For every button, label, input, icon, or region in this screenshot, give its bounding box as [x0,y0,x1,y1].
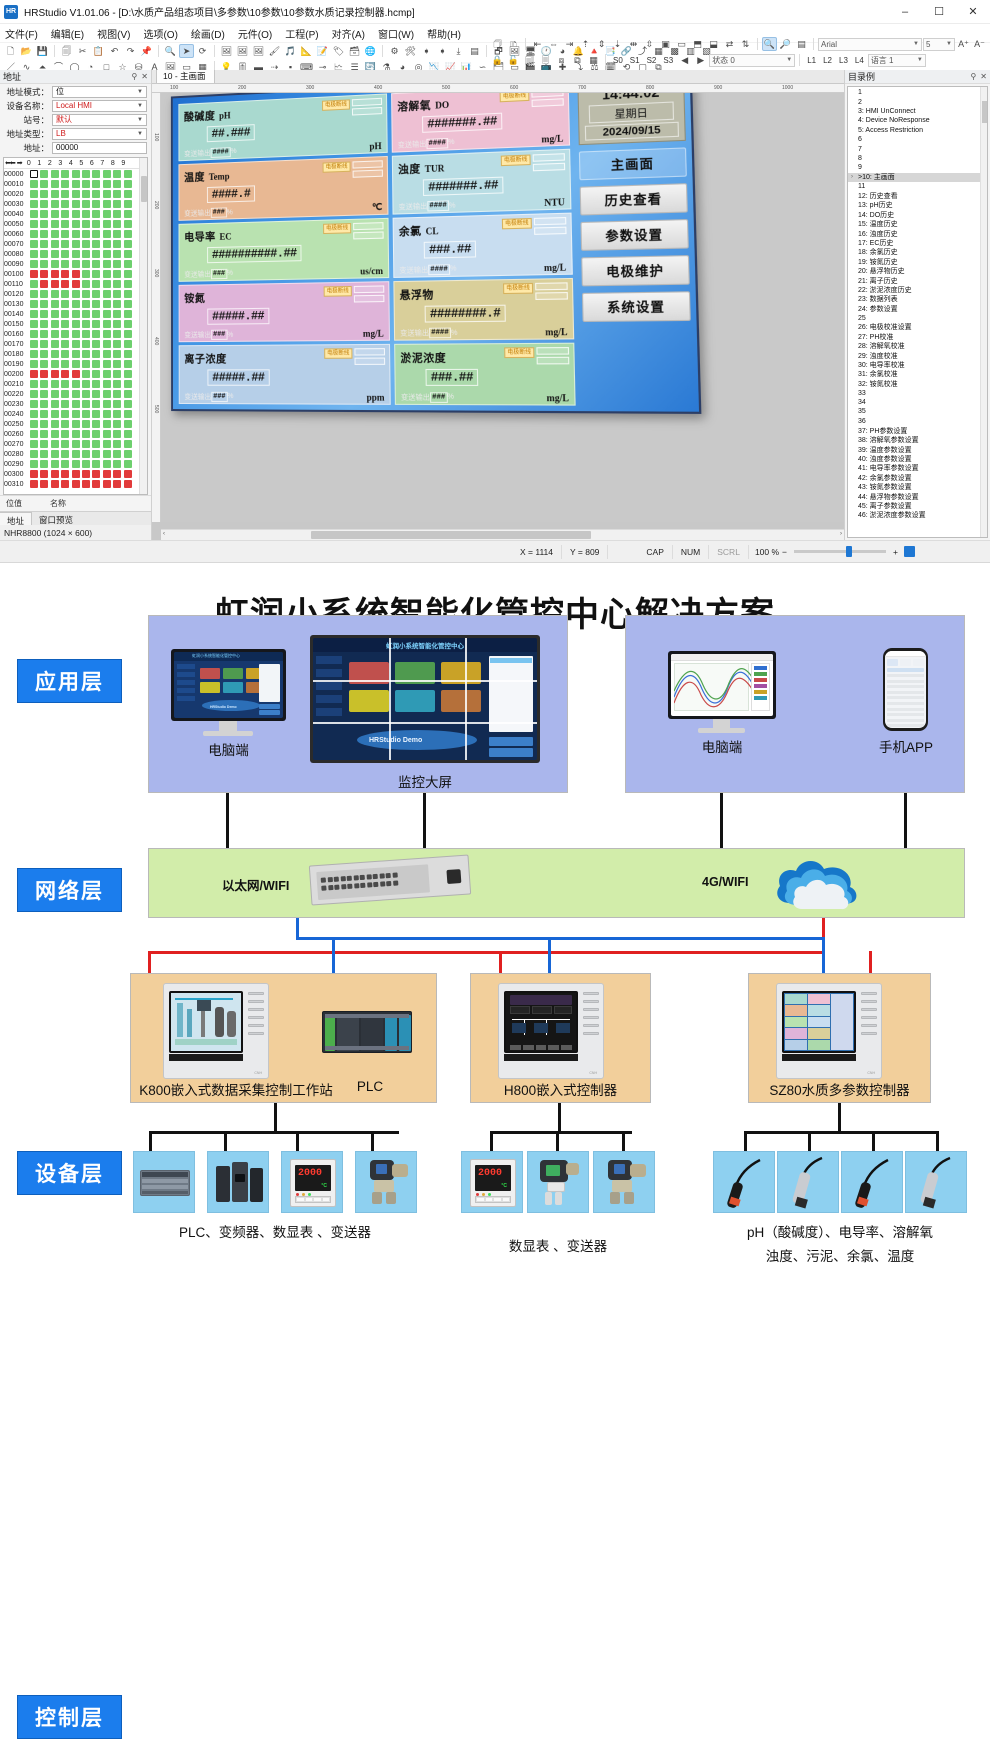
screen-list-item[interactable]: 6 [848,135,987,144]
address-bit-cell[interactable] [82,320,90,328]
fit-window-icon[interactable]: ▤ [794,37,809,51]
address-grid-row[interactable]: 00280 [4,449,147,459]
menu-window[interactable]: 窗口(W) [378,26,414,41]
fit-to-window-icon[interactable] [904,546,915,557]
address-bit-cell[interactable] [30,440,38,448]
address-bit-cell[interactable] [113,400,121,408]
distribute-h-icon[interactable]: ⇹ [626,37,641,51]
address-bit-cell[interactable] [103,390,111,398]
screen-list-item[interactable]: 14: DO历史 [848,210,987,219]
address-bit-cell[interactable] [30,200,38,208]
address-bit-cell[interactable] [103,360,111,368]
split-icon[interactable]: ⧉ [570,53,585,67]
address-bit-cell[interactable] [82,180,90,188]
screen-list-item[interactable]: 21: 离子历史 [848,276,987,285]
menu-options[interactable]: 选项(O) [143,26,177,41]
address-bit-cell[interactable] [30,380,38,388]
unlock-icon[interactable]: 🔓 [506,53,521,67]
screen-list-item[interactable]: 43: 铵氮参数设置 [848,482,987,491]
address-bit-cell[interactable] [72,400,80,408]
address-bit-cell[interactable] [51,440,59,448]
address-bit-cell[interactable] [82,310,90,318]
address-bit-cell[interactable] [30,480,38,488]
expand-arrow-icon[interactable]: › [851,174,853,180]
address-bit-cell[interactable] [30,270,38,278]
address-bit-cell[interactable] [82,390,90,398]
address-bit-cell[interactable] [82,220,90,228]
address-bit-cell[interactable] [124,220,132,228]
address-bit-cell[interactable] [51,180,59,188]
address-bit-cell[interactable] [82,440,90,448]
address-bit-cell[interactable] [113,270,121,278]
address-bit-cell[interactable] [40,410,48,418]
address-bit-cell[interactable] [124,240,132,248]
address-grid-row[interactable]: 00150 [4,319,147,329]
address-bit-cell[interactable] [30,370,38,378]
address-bit-cell[interactable] [51,430,59,438]
shape-library-icon[interactable]: 🖼 [251,44,266,58]
address-bit-cell[interactable] [30,250,38,258]
address-grid-row[interactable]: 00030 [4,199,147,209]
address-bit-cell[interactable] [61,430,69,438]
address-bit-cell[interactable] [51,360,59,368]
address-bit-cell[interactable] [92,340,100,348]
address-bit-cell[interactable] [92,390,100,398]
screen-list-item[interactable]: 4: Device NoResponse [848,116,987,125]
font-size-select[interactable]: 5 ▼ [923,38,955,51]
screen-list-scrollbar[interactable] [980,87,987,537]
address-bit-cell[interactable] [61,310,69,318]
address-bit-cell[interactable] [124,260,132,268]
address-bit-cell[interactable] [113,330,121,338]
address-bit-cell[interactable] [82,330,90,338]
address-type-select[interactable]: LB ▼ [52,128,147,140]
merge-icon[interactable]: ⧈ [554,53,569,67]
script-icon[interactable]: 📝 [315,44,330,58]
address-bit-cell[interactable] [103,270,111,278]
binoculars-find-icon[interactable]: 🔍 [163,44,178,58]
address-bit-cell[interactable] [124,430,132,438]
screen-list-item[interactable]: 9 [848,163,987,172]
layer-button-l2[interactable]: L2 [820,56,835,65]
address-bit-cell[interactable] [30,300,38,308]
address-bit-cell[interactable] [61,350,69,358]
grid-snap-icon[interactable]: ▦ [586,53,601,67]
address-bit-cell[interactable] [103,340,111,348]
address-bit-cell[interactable] [103,420,111,428]
address-bit-cell[interactable] [82,260,90,268]
address-bit-cell[interactable] [61,230,69,238]
canvas-horizontal-scrollbar[interactable]: ‹ › [161,529,844,540]
grid-nav-prev-icon[interactable]: ➡ [17,159,22,167]
address-bit-cell[interactable] [40,420,48,428]
address-bit-cell[interactable] [30,230,38,238]
zoom-in-icon[interactable]: 🔍 [762,37,777,51]
menu-file[interactable]: 文件(F) [5,26,38,41]
address-bit-cell[interactable] [113,430,121,438]
menu-element[interactable]: 元件(O) [238,26,272,41]
address-bit-cell[interactable] [61,290,69,298]
layer-button-l4[interactable]: L4 [852,56,867,65]
device-name-select[interactable]: Local HMI ▼ [52,100,147,112]
address-bit-cell[interactable] [72,280,80,288]
scrollbar-thumb[interactable] [311,531,591,539]
address-bit-cell[interactable] [40,360,48,368]
address-bit-cell[interactable] [51,280,59,288]
address-bit-cell[interactable] [113,350,121,358]
address-bit-cell[interactable] [40,200,48,208]
address-bit-cell[interactable] [51,290,59,298]
address-bit-cell[interactable] [82,430,90,438]
address-bit-cell[interactable] [113,480,121,488]
address-bit-cell[interactable] [92,240,100,248]
address-bit-cell[interactable] [51,240,59,248]
design-canvas[interactable]: 酸碱度pH电极断线##.###变送输出####%pH温度Temp电极断线####… [161,93,844,522]
address-bit-cell[interactable] [113,190,121,198]
address-bit-cell[interactable] [82,240,90,248]
address-bit-cell[interactable] [51,420,59,428]
hmi-parameter-box[interactable]: 悬浮物电极断线########.#变送输出####%mg/L [393,278,574,341]
address-bit-cell[interactable] [61,420,69,428]
address-bit-cell[interactable] [30,290,38,298]
address-bit-cell[interactable] [92,400,100,408]
nav-button-main-screen[interactable]: 主画面 [579,147,687,180]
address-bit-cell[interactable] [40,230,48,238]
address-bit-cell[interactable] [30,240,38,248]
address-bit-cell[interactable] [40,260,48,268]
screen-list-item[interactable]: 19: 铵氮历史 [848,257,987,266]
address-bit-cell[interactable] [51,340,59,348]
screen-list-item[interactable]: 30: 电导率校准 [848,360,987,369]
address-bit-cell[interactable] [61,270,69,278]
address-bit-cell[interactable] [92,370,100,378]
address-bit-cell[interactable] [113,380,121,388]
screen-list-item[interactable]: 15: 温度历史 [848,219,987,228]
sound-icon[interactable]: 🎵 [283,44,298,58]
address-bit-cell[interactable] [82,350,90,358]
address-grid-row[interactable]: 00060 [4,229,147,239]
address-bit-cell[interactable] [51,300,59,308]
address-bit-cell[interactable] [40,470,48,478]
hmi-parameter-box[interactable]: 离子浓度电极断线#####.##变送输出###%ppm [179,344,391,405]
address-bit-cell[interactable] [113,440,121,448]
screen-list-item[interactable]: 22: 淤泥浓度历史 [848,285,987,294]
decrease-font-icon[interactable]: A⁻ [972,37,987,51]
address-bit-cell[interactable] [51,480,59,488]
address-bit-cell[interactable] [124,350,132,358]
address-bit-cell[interactable] [113,170,121,178]
address-bit-cell[interactable] [124,400,132,408]
address-bit-cell[interactable] [82,340,90,348]
address-bit-cell[interactable] [51,320,59,328]
address-bit-cell[interactable] [30,220,38,228]
address-bit-cell[interactable] [61,220,69,228]
screen-list-item[interactable]: 17: EC历史 [848,238,987,247]
screen-list-item[interactable]: 28: 溶解氧校准 [848,342,987,351]
menu-project[interactable]: 工程(P) [285,26,318,41]
address-grid-row[interactable]: 00120 [4,289,147,299]
address-bit-cell[interactable] [103,460,111,468]
address-bit-cell[interactable] [124,190,132,198]
tab-address[interactable]: 地址 [0,512,32,525]
address-bit-cell[interactable] [124,210,132,218]
address-bit-cell[interactable] [103,440,111,448]
scroll-left-icon[interactable]: ‹ [163,531,165,537]
align-bottom-icon[interactable]: ⇣ [610,37,625,51]
address-bit-cell[interactable] [124,310,132,318]
address-bit-cell[interactable] [30,360,38,368]
electrode-disconnect-indicator[interactable]: 电极断线 [324,286,352,297]
address-bit-cell[interactable] [40,320,48,328]
address-bit-cell[interactable] [61,210,69,218]
address-grid-row[interactable]: 00300 [4,469,147,479]
address-bit-cell[interactable] [103,220,111,228]
address-bit-cell[interactable] [82,190,90,198]
screen-list-item[interactable]: 39: 温度参数设置 [848,445,987,454]
address-bit-cell[interactable] [72,480,80,488]
address-bit-cell[interactable] [92,280,100,288]
layer-button-l3[interactable]: L3 [836,56,851,65]
prev-state-icon[interactable]: ◀ [677,53,692,67]
address-bit-cell[interactable] [103,400,111,408]
address-bit-cell[interactable] [92,430,100,438]
address-bit-cell[interactable] [82,300,90,308]
flip-v-icon[interactable]: ⇅ [738,37,753,51]
address-bit-cell[interactable] [30,470,38,478]
address-bit-cell[interactable] [51,470,59,478]
address-bit-cell[interactable] [113,290,121,298]
address-bit-cell[interactable] [72,220,80,228]
address-bit-cell[interactable] [61,180,69,188]
address-grid-row[interactable]: 00080 [4,249,147,259]
address-bit-cell[interactable] [124,280,132,288]
address-bit-cell[interactable] [124,440,132,448]
screen-list-item[interactable]: 29: 浊度校准 [848,351,987,360]
address-bit-cell[interactable] [113,420,121,428]
address-type-field[interactable]: 地址类型： LB ▼ [2,127,147,140]
address-bit-cell[interactable] [103,230,111,238]
address-bit-cell[interactable] [30,410,38,418]
address-bit-cell[interactable] [113,370,121,378]
address-bit-grid[interactable]: ⬅⬅ ➡ 0123456789 000000001000020000300004… [3,157,148,495]
address-bit-cell[interactable] [103,410,111,418]
address-bit-cell[interactable] [72,230,80,238]
state-button-s0[interactable]: S0 [610,56,626,65]
address-bit-cell[interactable] [72,200,80,208]
address-bit-cell[interactable] [92,440,100,448]
screen-list-item[interactable]: 40: 浊度参数设置 [848,454,987,463]
address-bit-cell[interactable] [113,470,121,478]
screen-list-item[interactable]: 38: 溶解氧参数设置 [848,435,987,444]
address-bit-cell[interactable] [92,320,100,328]
flip-h-icon[interactable]: ⇄ [722,37,737,51]
address-bit-cell[interactable] [51,170,59,178]
device-name-field[interactable]: 设备名称： Local HMI ▼ [2,99,147,112]
address-bit-cell[interactable] [61,380,69,388]
address-bit-cell[interactable] [40,450,48,458]
address-grid-row[interactable]: 00110 [4,279,147,289]
address-bit-cell[interactable] [82,380,90,388]
address-bit-cell[interactable] [92,450,100,458]
address-bit-cell[interactable] [82,450,90,458]
address-bit-cell[interactable] [51,450,59,458]
address-bit-cell[interactable] [30,330,38,338]
address-grid-row[interactable]: 00310 [4,479,147,489]
address-grid-row[interactable]: 00190 [4,359,147,369]
address-bit-cell[interactable] [82,230,90,238]
address-bit-cell[interactable] [30,320,38,328]
address-bit-cell[interactable] [40,350,48,358]
hmi-parameter-box[interactable]: 酸碱度pH电极断线##.###变送输出####%pH [178,93,387,160]
address-bit-cell[interactable] [92,250,100,258]
address-bit-cell[interactable] [72,290,80,298]
address-bit-cell[interactable] [103,380,111,388]
address-bit-cell[interactable] [51,200,59,208]
address-grid-row[interactable]: 00140 [4,309,147,319]
address-bit-cell[interactable] [30,180,38,188]
address-bit-cell[interactable] [61,280,69,288]
group-icon[interactable]: 🗇 [490,37,505,51]
copy-icon[interactable]: 🗐 [59,44,74,58]
close-button[interactable]: ✕ [956,0,990,24]
address-bit-cell[interactable] [51,260,59,268]
address-bit-cell[interactable] [113,210,121,218]
bring-front-icon[interactable]: ⬒ [690,37,705,51]
address-bit-cell[interactable] [61,260,69,268]
address-bit-cell[interactable] [82,480,90,488]
address-bit-cell[interactable] [72,450,80,458]
address-bit-cell[interactable] [51,310,59,318]
address-input[interactable]: 00000 [52,142,147,154]
address-bit-cell[interactable] [92,330,100,338]
address-bit-cell[interactable] [30,390,38,398]
address-bit-cell[interactable] [113,220,121,228]
address-bit-cell[interactable] [30,430,38,438]
screen-list-item[interactable]: 23: 数据列表 [848,295,987,304]
address-bit-cell[interactable] [103,210,111,218]
screen-list-item[interactable]: 25 [848,313,987,322]
address-bit-cell[interactable] [92,220,100,228]
address-bit-cell[interactable] [61,390,69,398]
address-grid-row[interactable]: 00040 [4,209,147,219]
align-top-icon[interactable]: ⇡ [578,37,593,51]
duplicate-icon[interactable]: 🗏 [538,53,553,67]
address-grid-row[interactable]: 00050 [4,219,147,229]
address-bit-cell[interactable] [124,170,132,178]
address-bit-cell[interactable] [124,320,132,328]
align-left-icon[interactable]: ⇤ [530,37,545,51]
address-bit-cell[interactable] [92,360,100,368]
same-size-icon[interactable]: ▣ [658,37,673,51]
zoom-out-button[interactable]: − [782,547,787,557]
address-bit-cell[interactable] [40,270,48,278]
screen-list-item[interactable]: 44: 悬浮物参数设置 [848,492,987,501]
next-state-icon[interactable]: ▶ [693,53,708,67]
settings-gear-icon[interactable]: ⚙ [387,44,402,58]
grid-nav-first-icon[interactable]: ⬅⬅ [5,159,15,167]
open-folder-icon[interactable]: 📂 [19,44,34,58]
address-bit-cell[interactable] [61,470,69,478]
address-bit-cell[interactable] [92,290,100,298]
address-bit-cell[interactable] [113,230,121,238]
screen-list-item[interactable]: 3: HMI UnConnect [848,107,987,116]
address-bit-cell[interactable] [124,360,132,368]
address-bit-cell[interactable] [113,310,121,318]
zoom-in-button[interactable]: + [893,547,898,557]
maximize-button[interactable]: ☐ [922,0,956,24]
address-bit-cell[interactable] [124,250,132,258]
address-bit-cell[interactable] [113,240,121,248]
address-bit-cell[interactable] [124,410,132,418]
address-bit-cell[interactable] [72,330,80,338]
address-bit-cell[interactable] [72,270,80,278]
copy-state-icon[interactable]: 🗐 [522,53,537,67]
screen-list-item[interactable]: 26: 电极校准设置 [848,323,987,332]
scroll-right-icon[interactable]: › [840,531,842,537]
address-grid-row[interactable]: 00000 [4,169,147,179]
address-bit-cell[interactable] [113,320,121,328]
address-bit-cell[interactable] [61,440,69,448]
address-grid-row[interactable]: 00210 [4,379,147,389]
database-icon[interactable]: 🗃 [347,44,362,58]
simulate-icon[interactable]: ➧ [435,44,450,58]
screen-list-item[interactable]: 7 [848,144,987,153]
address-grid-row[interactable]: 00220 [4,389,147,399]
image-library-icon[interactable]: 🖼 [235,44,250,58]
address-bit-cell[interactable] [103,430,111,438]
address-bit-cell[interactable] [92,230,100,238]
compile-icon[interactable]: ➧ [419,44,434,58]
address-bit-cell[interactable] [113,340,121,348]
font-family-select[interactable]: Arial ▼ [818,38,922,51]
address-bit-cell[interactable] [40,430,48,438]
electrode-disconnect-indicator[interactable]: 电极断线 [323,223,351,234]
globe-icon[interactable]: 🌐 [363,44,378,58]
screen-list-item[interactable]: 5: Access Restriction [848,126,987,135]
electrode-disconnect-indicator[interactable]: 电极断线 [501,154,531,166]
same-width-icon[interactable]: ▭ [674,37,689,51]
address-bit-cell[interactable] [103,350,111,358]
nav-button-history[interactable]: 历史查看 [580,183,688,215]
state-button-s3[interactable]: S3 [660,56,676,65]
address-bit-cell[interactable] [72,350,80,358]
close-icon[interactable]: ✕ [980,72,987,81]
send-back-icon[interactable]: ⬓ [706,37,721,51]
address-value-field[interactable]: 地址： 00000 [2,141,147,154]
address-bit-cell[interactable] [113,390,121,398]
address-bit-cell[interactable] [72,410,80,418]
address-bit-cell[interactable] [92,190,100,198]
address-bit-cell[interactable] [30,280,38,288]
address-bit-cell[interactable] [72,430,80,438]
address-bit-cell[interactable] [61,480,69,488]
address-bit-cell[interactable] [61,170,69,178]
undo-icon[interactable]: ↶ [107,44,122,58]
pin-icon[interactable]: ⚲ [131,72,137,81]
address-grid-row[interactable]: 00180 [4,349,147,359]
address-bit-cell[interactable] [92,270,100,278]
address-bit-cell[interactable] [72,310,80,318]
address-bit-cell[interactable] [51,330,59,338]
address-bit-cell[interactable] [40,240,48,248]
screen-list-item[interactable]: 45: 离子参数设置 [848,501,987,510]
address-bit-cell[interactable] [82,250,90,258]
address-bit-cell[interactable] [113,300,121,308]
address-bit-cell[interactable] [103,470,111,478]
address-bit-cell[interactable] [30,420,38,428]
address-bit-cell[interactable] [72,380,80,388]
address-bit-cell[interactable] [72,170,80,178]
